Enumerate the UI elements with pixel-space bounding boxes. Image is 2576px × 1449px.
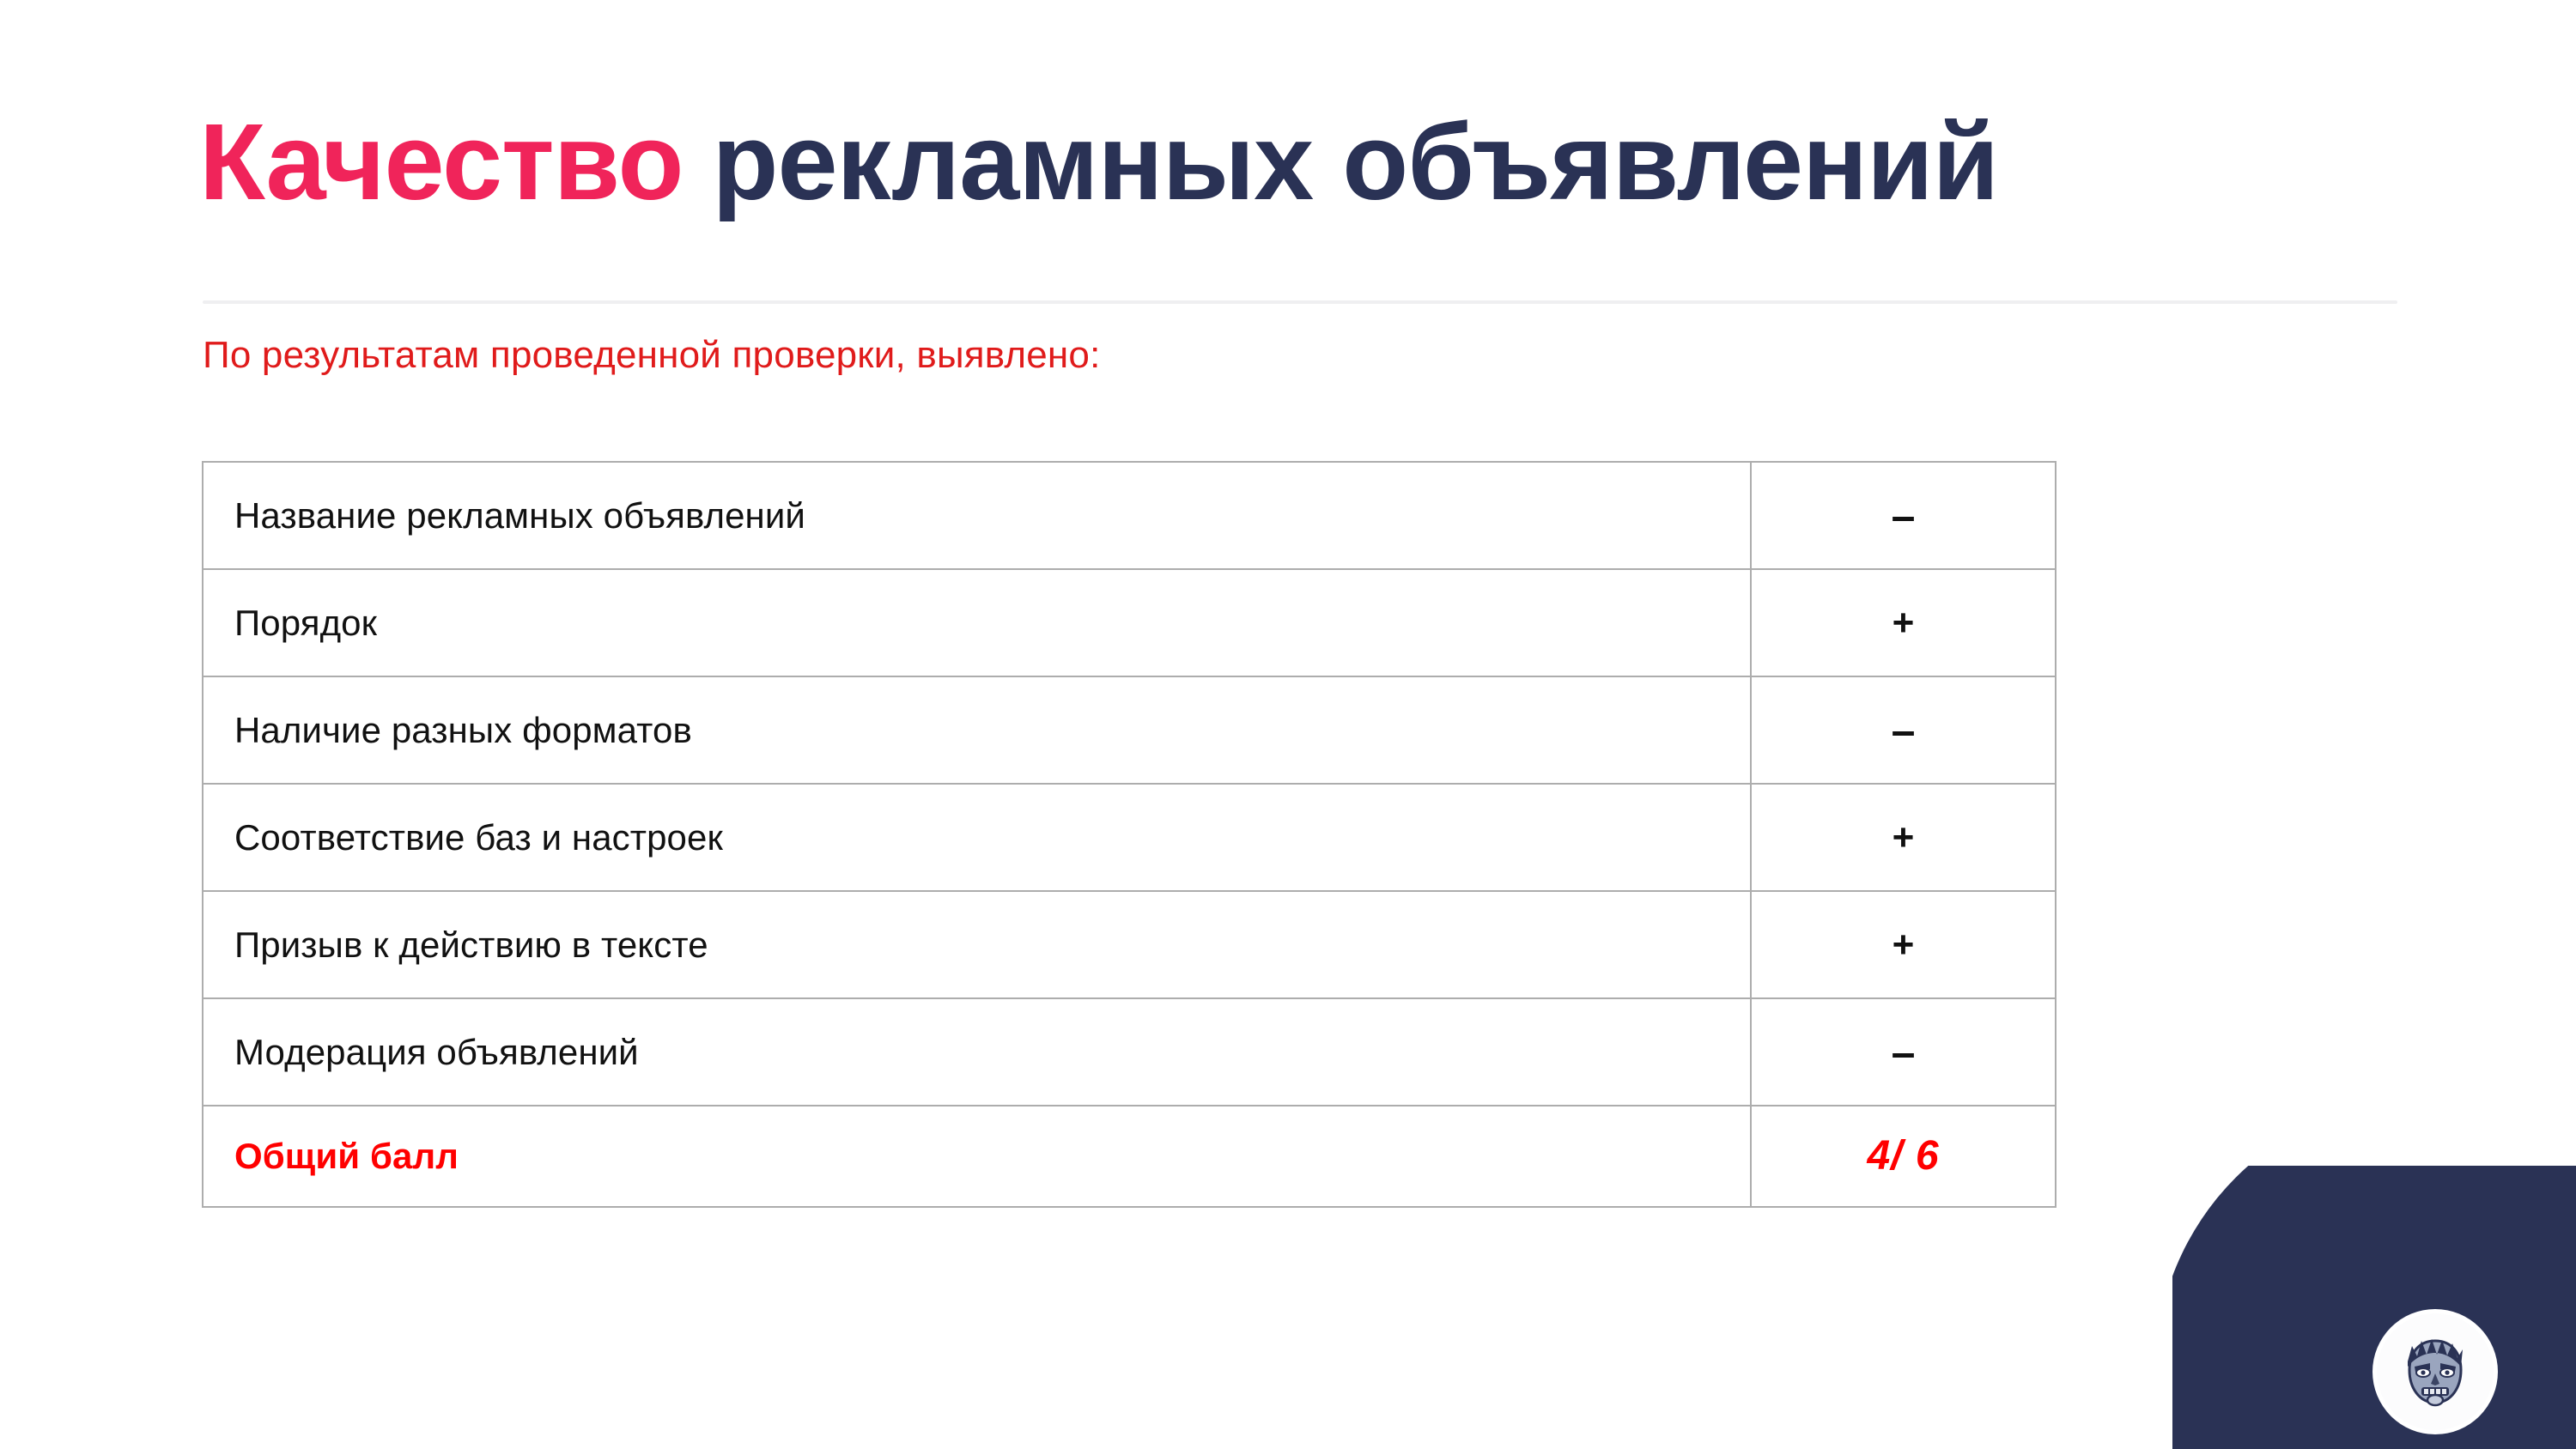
page-title-accent: Качество — [199, 101, 683, 222]
title-divider — [203, 300, 2397, 304]
table-row: Модерация объявлений – — [203, 998, 2056, 1106]
row-value: + — [1751, 569, 2056, 676]
slide-canvas: Качество рекламных объявлений По результ… — [0, 0, 2576, 1449]
corner-decoration — [2172, 1166, 2576, 1449]
corner-shape — [2172, 1166, 2576, 1449]
table-row: Название рекламных объявлений – — [203, 462, 2056, 569]
total-value: 4/ 6 — [1751, 1106, 2056, 1207]
row-label: Модерация объявлений — [203, 998, 1751, 1106]
table-row: Наличие разных форматов – — [203, 676, 2056, 784]
row-label: Призыв к действию в тексте — [203, 891, 1751, 998]
gorgon-face-logo-icon — [2391, 1327, 2480, 1416]
audit-table: Название рекламных объявлений – Порядок … — [202, 461, 2057, 1208]
row-value: – — [1751, 998, 2056, 1106]
table-row: Призыв к действию в тексте + — [203, 891, 2056, 998]
total-label: Общий балл — [203, 1106, 1751, 1207]
row-label: Название рекламных объявлений — [203, 462, 1751, 569]
row-label: Соответствие баз и настроек — [203, 784, 1751, 891]
row-value: – — [1751, 462, 2056, 569]
row-value: – — [1751, 676, 2056, 784]
subtitle-text: По результатам проведенной проверки, выя… — [203, 334, 1101, 377]
table-row: Порядок + — [203, 569, 2056, 676]
row-value: + — [1751, 784, 2056, 891]
page-title-main: рекламных объявлений — [683, 101, 1999, 222]
row-label: Наличие разных форматов — [203, 676, 1751, 784]
table-row: Соответствие баз и настроек + — [203, 784, 2056, 891]
logo-badge — [2377, 1313, 2494, 1430]
row-value: + — [1751, 891, 2056, 998]
page-title: Качество рекламных объявлений — [199, 101, 2432, 222]
table-row-total: Общий балл 4/ 6 — [203, 1106, 2056, 1207]
row-label: Порядок — [203, 569, 1751, 676]
